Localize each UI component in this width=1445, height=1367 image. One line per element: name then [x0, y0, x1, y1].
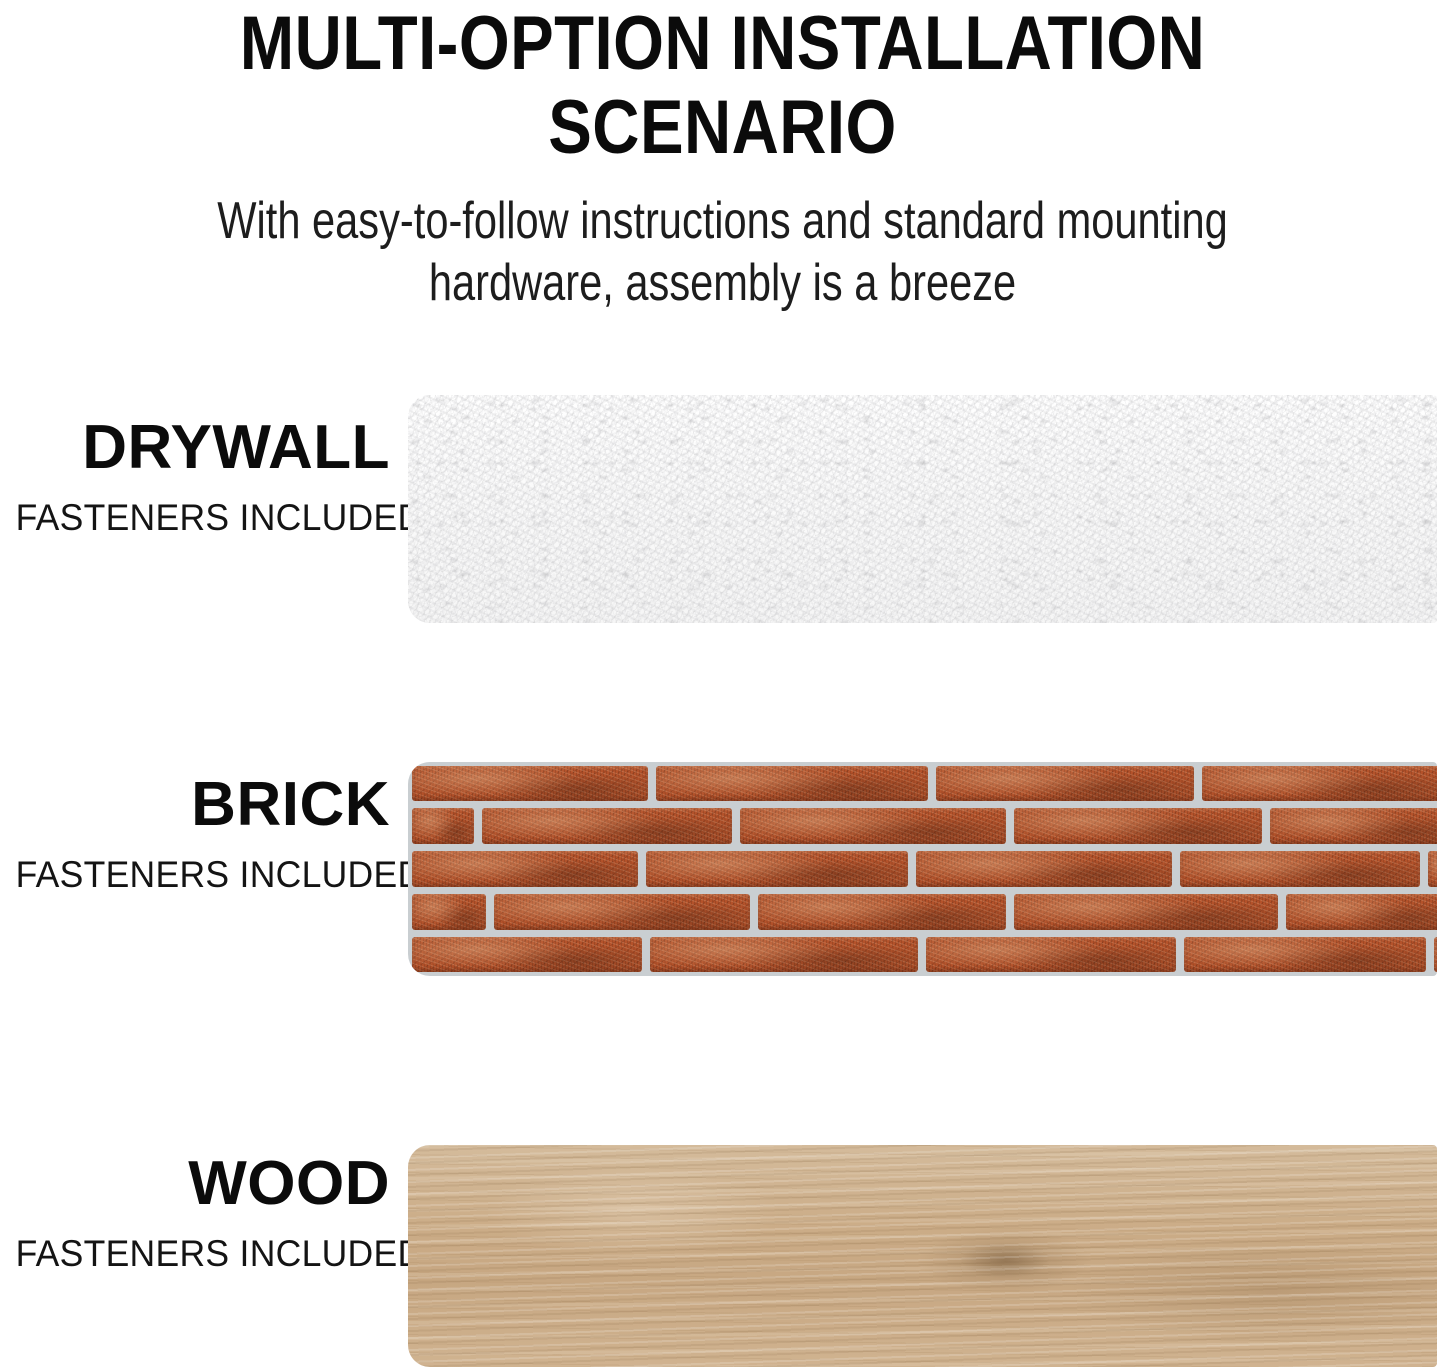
section-wood: WOOD FASTENERS INCLUDED [0, 1145, 1445, 1367]
page-subtitle: With easy-to-follow instructions and sta… [145, 170, 1301, 314]
material-name-wood: WOOD [0, 1145, 390, 1217]
brick-unit [646, 851, 908, 887]
brick-texture-swatch [408, 762, 1437, 976]
brick-unit [412, 851, 638, 887]
brick-unit [1014, 894, 1278, 930]
brick-unit [412, 894, 486, 930]
drywall-label-column: DRYWALL FASTENERS INCLUDED [0, 395, 390, 623]
brick-unit [1202, 766, 1437, 802]
brick-unit [1434, 937, 1437, 973]
brick-unit [740, 808, 1006, 844]
brick-unit [494, 894, 750, 930]
wood-label-column: WOOD FASTENERS INCLUDED [0, 1145, 390, 1367]
header: MULTI-OPTION INSTALLATION SCENARIO With … [0, 0, 1445, 330]
brick-unit [650, 937, 918, 973]
fasteners-included-drywall: FASTENERS INCLUDED [16, 481, 390, 539]
brick-unit [1014, 808, 1262, 844]
brick-unit [1270, 808, 1437, 844]
brick-unit [1428, 851, 1437, 887]
brick-label-column: BRICK FASTENERS INCLUDED [0, 762, 390, 976]
fasteners-included-brick: FASTENERS INCLUDED [16, 838, 390, 896]
brick-course [408, 848, 1437, 891]
material-name-brick: BRICK [0, 762, 390, 838]
brick-unit [1286, 894, 1437, 930]
fasteners-included-wood: FASTENERS INCLUDED [16, 1217, 390, 1275]
brick-unit [412, 937, 642, 973]
drywall-texture-swatch [408, 395, 1437, 623]
brick-unit [926, 937, 1176, 973]
page-title: MULTI-OPTION INSTALLATION SCENARIO [101, 0, 1344, 170]
brick-course [408, 762, 1437, 805]
brick-unit [916, 851, 1172, 887]
brick-unit [412, 766, 648, 802]
brick-course [408, 890, 1437, 933]
brick-courses [408, 762, 1437, 976]
section-drywall: DRYWALL FASTENERS INCLUDED [0, 395, 1445, 623]
brick-unit [412, 808, 474, 844]
brick-unit [656, 766, 928, 802]
brick-unit [758, 894, 1006, 930]
brick-unit [482, 808, 732, 844]
brick-course [408, 933, 1437, 976]
section-brick: BRICK FASTENERS INCLUDED [0, 762, 1445, 976]
brick-unit [1184, 937, 1426, 973]
wood-texture-swatch [408, 1145, 1437, 1367]
brick-unit [1180, 851, 1420, 887]
brick-unit [936, 766, 1194, 802]
brick-course [408, 805, 1437, 848]
material-name-drywall: DRYWALL [0, 395, 390, 481]
